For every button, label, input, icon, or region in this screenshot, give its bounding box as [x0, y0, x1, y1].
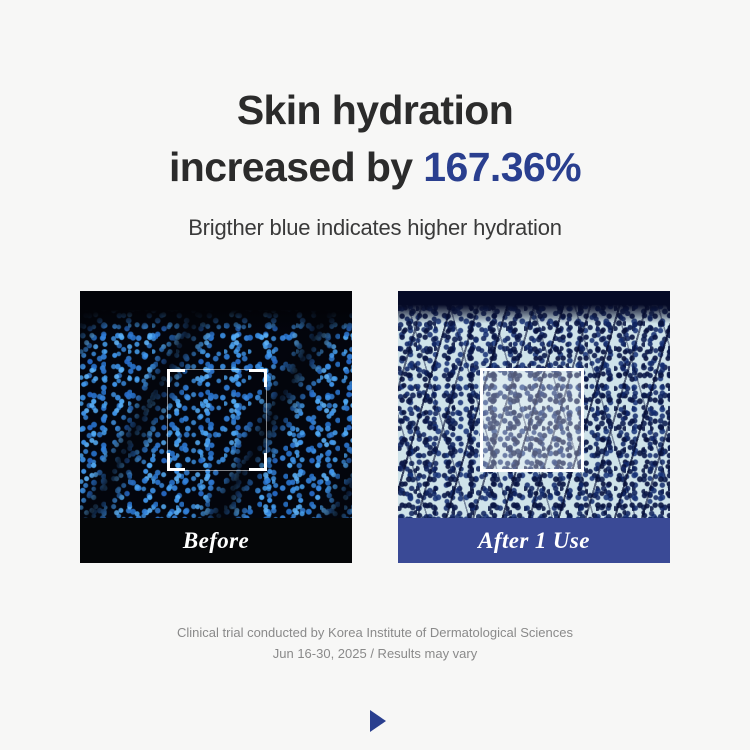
headline-line-1: Skin hydration [0, 82, 750, 139]
disclaimer-line-2: Jun 16-30, 2025 / Results may vary [0, 643, 750, 664]
headline-prefix: increased by [169, 144, 423, 190]
before-image-panel: Before [80, 291, 352, 563]
clinical-trial-disclaimer: Clinical trial conducted by Korea Instit… [0, 622, 750, 664]
hydration-metric-value: 167.36% [423, 144, 581, 190]
hydration-comparison-infographic: Skin hydration increased by 167.36% Brig… [0, 0, 750, 750]
subtitle: Brigther blue indicates higher hydration [0, 215, 750, 241]
before-after-comparison: Before After 1 Use [0, 291, 750, 566]
disclaimer-line-1: Clinical trial conducted by Korea Instit… [0, 622, 750, 643]
after-label: After 1 Use [398, 518, 670, 563]
page-title: Skin hydration increased by 167.36% [0, 82, 750, 196]
arrow-right-icon [370, 710, 386, 732]
before-label: Before [80, 518, 352, 563]
headline-line-2: increased by 167.36% [0, 139, 750, 196]
after-image-panel: After 1 Use [398, 291, 670, 563]
